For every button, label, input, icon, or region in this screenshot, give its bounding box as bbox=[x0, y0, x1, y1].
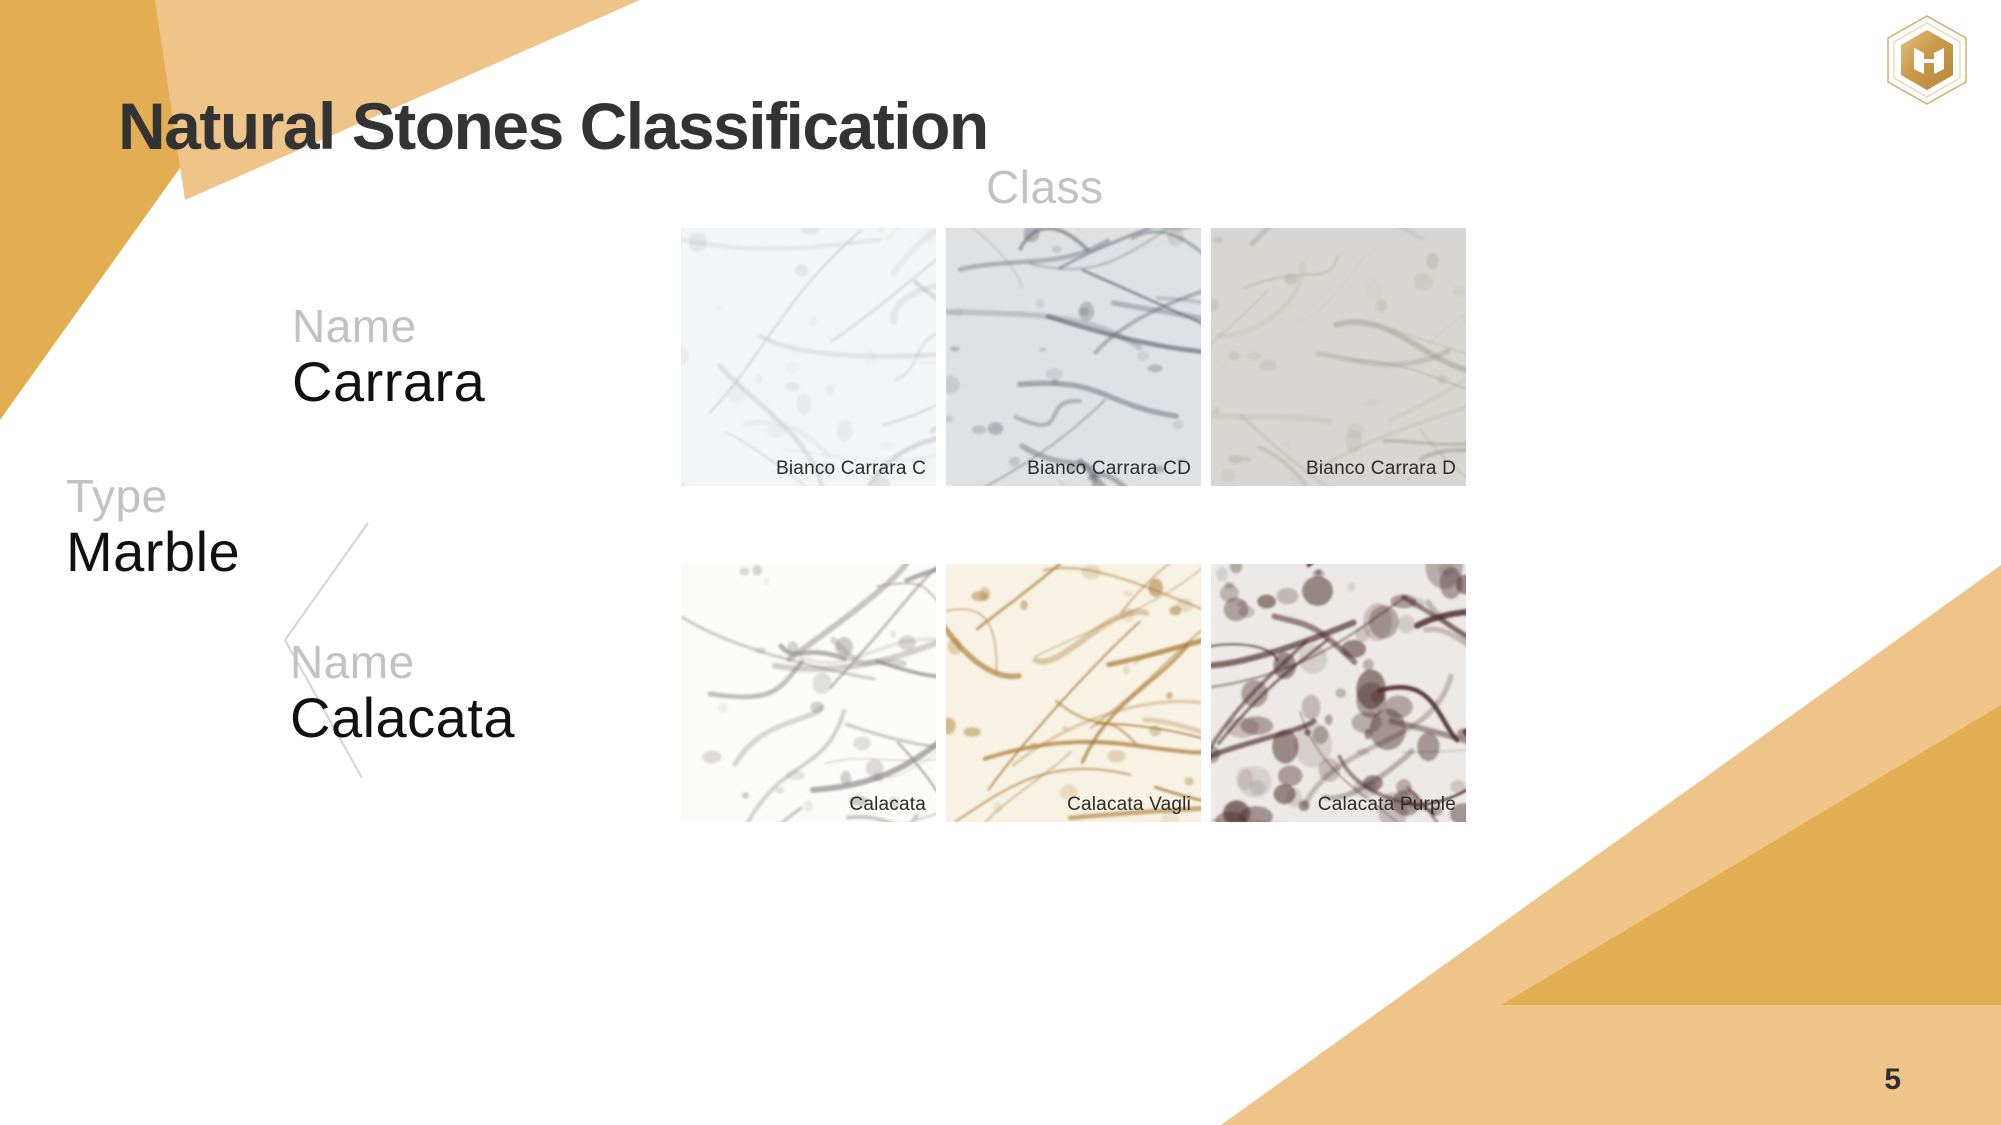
marble-sample-bianco-carrara-c: Bianco Carrara C bbox=[681, 228, 936, 486]
marble-sample-caption: Bianco Carrara D bbox=[1306, 458, 1456, 480]
page-title: Natural Stones Classification bbox=[118, 88, 988, 164]
tree-node-name-carrara: Name Carrara bbox=[292, 302, 485, 411]
marble-texture-calacata-vagli bbox=[946, 564, 1201, 822]
marble-texture-bianco-carrara-d bbox=[1211, 228, 1466, 486]
marble-texture-bianco-carrara-c bbox=[681, 228, 936, 486]
marble-sample-grid: Bianco Carrara C Bianco Carrara CD Bianc… bbox=[681, 228, 1471, 822]
hexagon-h-logo: H bbox=[1881, 12, 1973, 108]
tree-node-name-calacata-value: Calacata bbox=[290, 688, 515, 747]
marble-sample-calacata-purple: Calacata Purple bbox=[1211, 564, 1466, 822]
marble-texture-bianco-carrara-cd bbox=[946, 228, 1201, 486]
marble-sample-caption: Calacata bbox=[849, 794, 926, 816]
tree-node-type: Type Marble bbox=[66, 472, 240, 581]
bottom-right-dark-gold-band bbox=[1441, 705, 2001, 1125]
tree-node-type-label: Type bbox=[66, 472, 240, 522]
marble-sample-calacata-vagli: Calacata Vagli bbox=[946, 564, 1201, 822]
slide-canvas: H Natural Stones Classification Type Mar… bbox=[0, 0, 2001, 1125]
marble-sample-bianco-carrara-d: Bianco Carrara D bbox=[1211, 228, 1466, 486]
page-number: 5 bbox=[1884, 1063, 1901, 1097]
marble-sample-bianco-carrara-cd: Bianco Carrara CD bbox=[946, 228, 1201, 486]
tree-node-name-carrara-value: Carrara bbox=[292, 352, 485, 411]
marble-sample-calacata: Calacata bbox=[681, 564, 936, 822]
classification-tree: Type Marble Name Carrara Name Calacata bbox=[0, 280, 640, 840]
marble-sample-caption: Bianco Carrara C bbox=[776, 458, 926, 480]
marble-sample-caption: Calacata Vagli bbox=[1067, 794, 1191, 816]
marble-texture-calacata bbox=[681, 564, 936, 822]
marble-texture-calacata-purple bbox=[1211, 564, 1466, 822]
tree-node-name-carrara-label: Name bbox=[292, 302, 485, 352]
tree-node-type-value: Marble bbox=[66, 522, 240, 581]
tree-node-name-calacata-label: Name bbox=[290, 638, 515, 688]
class-heading: Class bbox=[986, 160, 1104, 214]
tree-node-name-calacata: Name Calacata bbox=[290, 638, 515, 747]
marble-sample-caption: Calacata Purple bbox=[1318, 794, 1456, 816]
marble-sample-caption: Bianco Carrara CD bbox=[1027, 458, 1191, 480]
